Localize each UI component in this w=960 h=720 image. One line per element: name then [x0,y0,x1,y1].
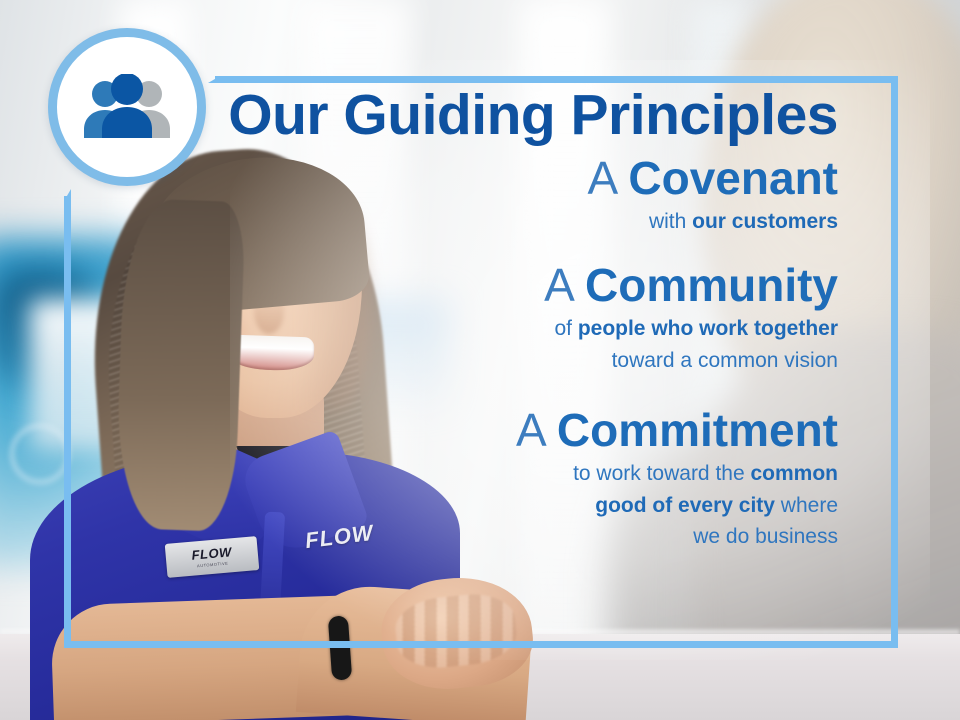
principle-headline: A Covenant [180,154,838,204]
copy-block: Our Guiding Principles A Covenantwith ou… [180,86,880,551]
page-title: Our Guiding Principles [180,86,838,146]
principle-article: A [516,404,557,456]
principle-keyword: Commitment [557,404,838,456]
subline-emphasis: people who work together [578,317,838,340]
principle-community: A Communityof people who work togetherto… [180,261,838,374]
subline-text: with [649,210,692,233]
subline-emphasis: our customers [692,210,838,233]
subline-text: of [554,317,577,340]
principle-subline: we do business [180,523,838,551]
principle-commitment: A Commitmentto work toward the commongoo… [180,406,838,551]
subline-emphasis: good of every city [595,494,775,517]
principle-subline: to work toward the common [180,460,838,488]
principle-headline: A Community [180,261,838,311]
subline-emphasis: common [750,462,838,485]
principle-subline: toward a common vision [180,347,838,375]
blurred-logo-mark [10,424,70,484]
subline-text: toward a common vision [612,349,838,372]
principle-article: A [587,152,628,204]
subline-text: where [775,494,838,517]
principle-keyword: Covenant [628,152,838,204]
principle-subline: of people who work together [180,315,838,343]
subline-text: to work toward the [573,462,750,485]
subline-text: we do business [693,525,838,548]
principle-covenant: A Covenantwith our customers [180,154,838,235]
principle-headline: A Commitment [180,406,838,456]
principle-subline: good of every city where [180,492,838,520]
principle-article: A [544,259,585,311]
guiding-principles-graphic: FLOW AUTOMOTIVE FLOW [0,0,960,720]
principles-list: A Covenantwith our customersA Communityo… [180,154,838,551]
principle-keyword: Community [585,259,838,311]
principle-subline: with our customers [180,208,838,236]
